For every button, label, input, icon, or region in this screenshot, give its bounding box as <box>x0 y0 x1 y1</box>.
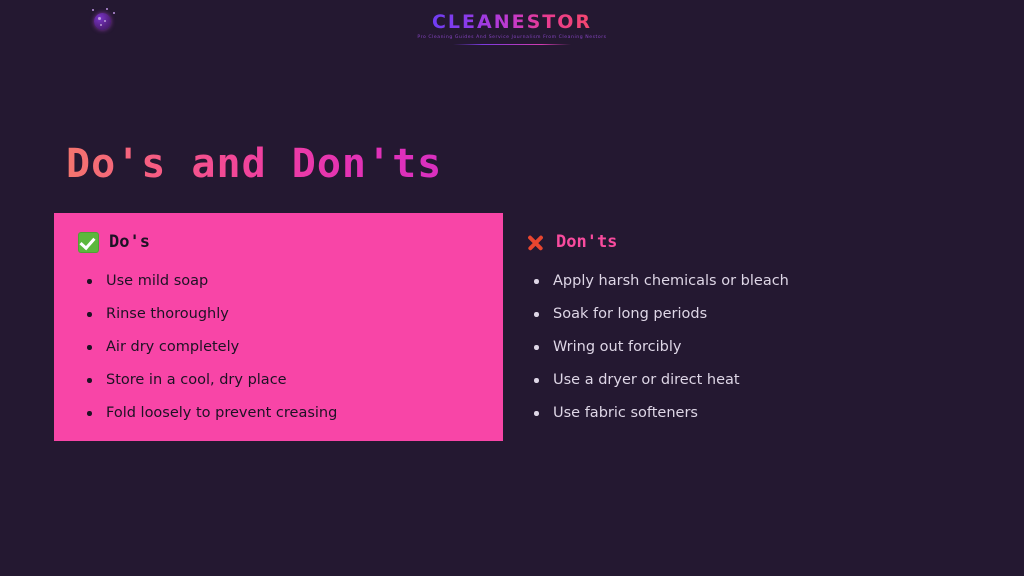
donts-list: Apply harsh chemicals or bleach Soak for… <box>525 272 985 422</box>
donts-card: Don'ts Apply harsh chemicals or bleach S… <box>525 213 985 441</box>
list-item: Air dry completely <box>78 338 479 356</box>
brand-divider <box>453 44 571 45</box>
sparkle-icon <box>113 12 115 14</box>
list-item: Use a dryer or direct heat <box>525 371 985 389</box>
list-item: Rinse thoroughly <box>78 305 479 323</box>
page-title: Do's and Don'ts <box>66 140 442 188</box>
dos-card: Do's Use mild soap Rinse thoroughly Air … <box>54 213 503 441</box>
dos-card-title: Do's <box>109 231 150 253</box>
cross-mark-icon <box>525 232 546 253</box>
sparkle-icon <box>106 8 108 10</box>
check-mark-icon <box>78 232 99 253</box>
sparkle-icon <box>92 9 94 11</box>
list-item: Use fabric softeners <box>525 404 985 422</box>
list-item: Apply harsh chemicals or bleach <box>525 272 985 290</box>
list-item: Store in a cool, dry place <box>78 371 479 389</box>
bubble-icon <box>94 13 111 30</box>
content-columns: Do's Use mild soap Rinse thoroughly Air … <box>0 213 1024 453</box>
brand-wordmark: CLEANESTOR <box>432 12 592 32</box>
bubble-dot <box>104 20 106 22</box>
donts-card-title: Don'ts <box>556 231 617 253</box>
list-item: Soak for long periods <box>525 305 985 323</box>
donts-card-header: Don'ts <box>525 230 985 254</box>
brand-tagline: Pro Cleaning Guides And Service Journali… <box>417 34 606 41</box>
dos-card-header: Do's <box>78 230 479 254</box>
list-item: Wring out forcibly <box>525 338 985 356</box>
dos-list: Use mild soap Rinse thoroughly Air dry c… <box>78 272 479 422</box>
list-item: Fold loosely to prevent creasing <box>78 404 479 422</box>
bubble-dot <box>98 17 101 20</box>
bubble-dot <box>100 24 102 26</box>
brand-header: CLEANESTOR Pro Cleaning Guides And Servi… <box>0 12 1024 45</box>
list-item: Use mild soap <box>78 272 479 290</box>
